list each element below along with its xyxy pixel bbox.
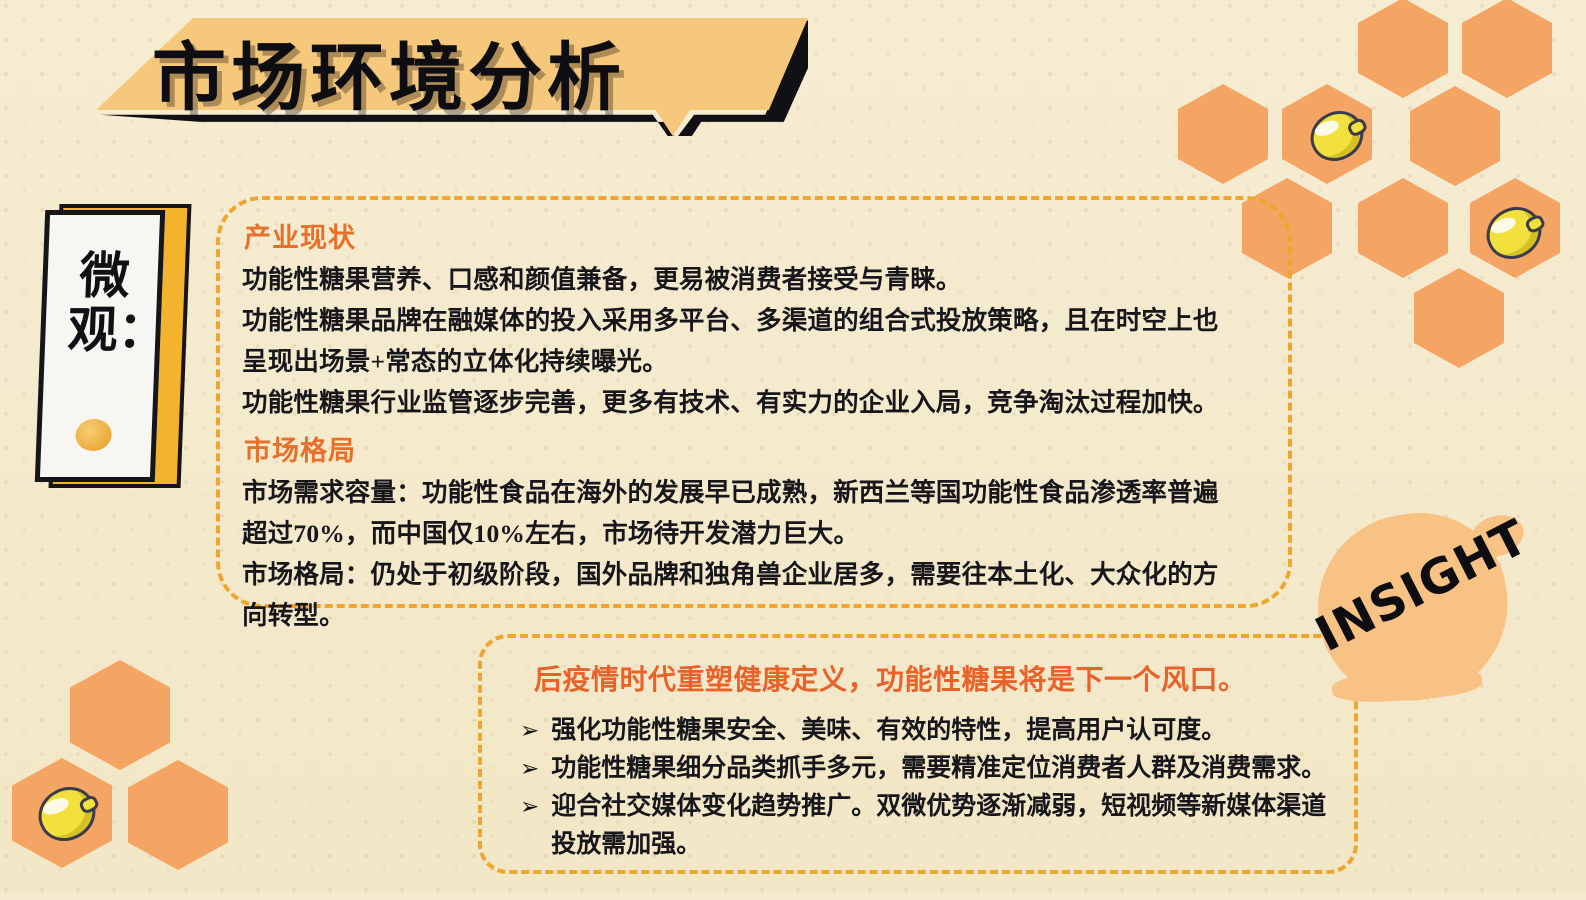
section-line: 向转型。 [242,595,1270,636]
hexagon [1358,178,1448,278]
arrow-bullet-icon: ➢ [520,750,539,788]
arrow-bullet-icon: ➢ [520,788,539,826]
insight-badge: INSIGHT [1308,506,1538,724]
side-tag-dot-icon [75,419,112,451]
list-item: ➢ 强化功能性糖果安全、美味、有效的特性，提高用户认可度。 [520,712,1344,750]
hexagon [1414,268,1504,368]
list-item: ➢ 功能性糖果细分品类抓手多元，需要精准定位消费者人群及消费需求。 [520,750,1344,788]
list-item-text: 功能性糖果细分品类抓手多元，需要精准定位消费者人群及消费需求。 [551,750,1326,788]
section-line: 功能性糖果行业监管逐步完善，更多有技术、有实力的企业入局，竞争淘汰过程加快。 [242,382,1270,423]
honeycomb-bottom-left [8,660,248,900]
section-line: 功能性糖果品牌在融媒体的投入采用多平台、多渠道的组合式投放策略，且在时空上也 [242,300,1270,341]
section-line: 功能性糖果营养、口感和颜值兼备，更易被消费者接受与青睐。 [242,259,1270,300]
hexagon [1358,0,1448,98]
page-title-banner: 市场环境分析 [96,18,808,136]
section-line: 呈现出场景+常态的立体化持续曝光。 [242,341,1270,382]
insight-headline: 后疫情时代重塑健康定义，功能性糖果将是下一个风口。 [534,658,1344,698]
hexagon [70,660,170,770]
section-heading: 产业现状 [244,216,1270,255]
list-item: ➢ 迎合社交媒体变化趋势推广。双微优势逐渐减弱，短视频等新媒体渠道投放需加强。 [520,788,1344,864]
page-title: 市场环境分析 [152,30,626,126]
insight-box: 后疫情时代重塑健康定义，功能性糖果将是下一个风口。 ➢ 强化功能性糖果安全、美味… [478,634,1358,874]
hexagon [1410,86,1500,186]
hexagon [128,760,228,870]
hexagon [1178,84,1268,184]
arrow-bullet-icon: ➢ [520,712,539,750]
section-heading: 市场格局 [244,429,1270,468]
side-tag-label: 微观： [67,249,141,357]
hexagon [1462,0,1552,98]
section-industry-status: 产业现状 功能性糖果营养、口感和颜值兼备，更易被消费者接受与青睐。 功能性糖果品… [242,216,1270,423]
list-item-text: 强化功能性糖果安全、美味、有效的特性，提高用户认可度。 [551,712,1226,750]
main-content-box: 产业现状 功能性糖果营养、口感和颜值兼备，更易被消费者接受与青睐。 功能性糖果品… [216,196,1292,608]
section-line: 市场格局：仍处于初级阶段，国外品牌和独角兽企业居多，需要往本土化、大众化的方 [242,554,1270,595]
section-market-landscape: 市场格局 市场需求容量：功能性食品在海外的发展早已成熟，新西兰等国功能性食品渗透… [242,429,1270,636]
list-item-text: 迎合社交媒体变化趋势推广。双微优势逐渐减弱，短视频等新媒体渠道投放需加强。 [551,788,1344,864]
section-line: 超过70%，而中国仅10%左右，市场待开发潜力巨大。 [242,513,1270,554]
side-tag: 微观： [40,196,178,480]
side-tag-card: 微观： [35,210,165,482]
section-line: 市场需求容量：功能性食品在海外的发展早已成熟，新西兰等国功能性食品渗透率普遍 [242,472,1270,513]
